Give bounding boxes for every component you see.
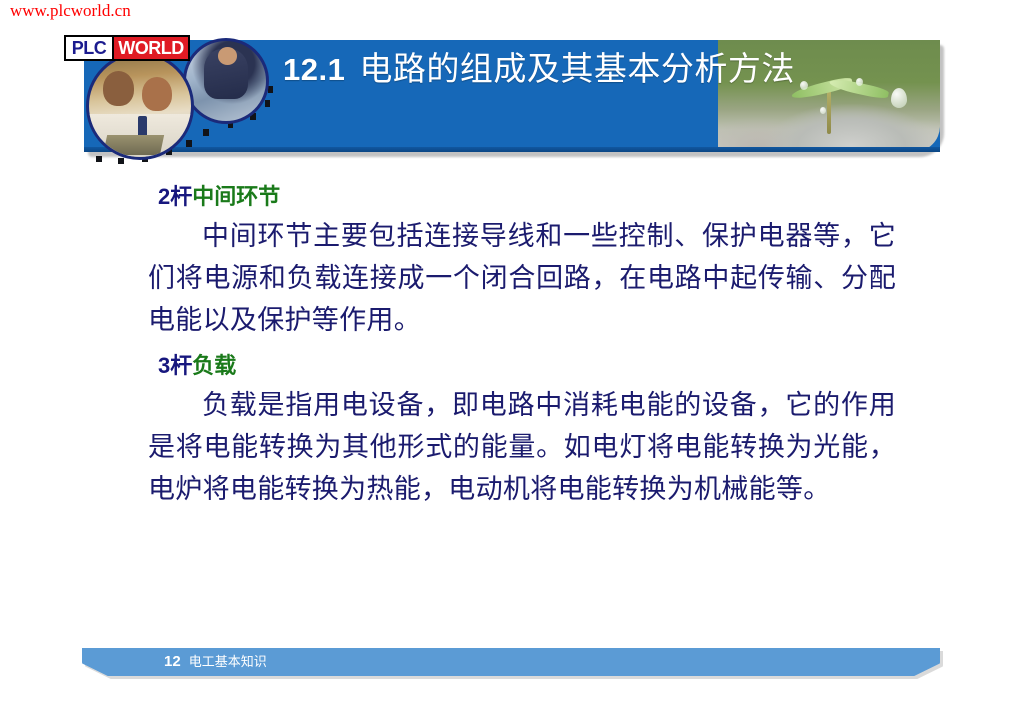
- scan-artifact: [203, 129, 209, 136]
- watermark-url: www.plcworld.cn: [10, 1, 131, 21]
- section-heading-2-prefix: 2杆: [158, 184, 192, 209]
- photo-circle-back: [183, 38, 269, 124]
- footer-label: 12电工基本知识: [164, 652, 267, 672]
- section-spacer: [0, 341, 1024, 349]
- section-heading-2: 2杆中间环节: [0, 180, 1024, 213]
- header-section-number: 12.1: [283, 52, 345, 87]
- scan-artifact: [265, 100, 270, 107]
- photo-shape-person-b: [142, 77, 172, 111]
- footer-chapter-number: 12: [164, 653, 181, 670]
- logo-plc-text: PLC: [66, 37, 112, 59]
- water-droplet-icon: [820, 107, 826, 114]
- photo-circle-front: [86, 52, 194, 160]
- section-heading-3: 3杆负载: [0, 349, 1024, 382]
- section-paragraph-2: 中间环节主要包括连接导线和一些控制、保护电器等，它们将电源和负载连接成一个闭合回…: [0, 215, 1024, 341]
- slide-body: 2杆中间环节 中间环节主要包括连接导线和一些控制、保护电器等，它们将电源和负载连…: [0, 180, 1024, 510]
- scan-artifact: [268, 86, 273, 93]
- photo-shape-person-a: [103, 71, 134, 106]
- section-heading-3-prefix: 3杆: [158, 353, 192, 378]
- slide-footer: 12电工基本知识: [82, 648, 940, 676]
- section-heading-2-label: 中间环节: [192, 184, 280, 209]
- photo-shape-laptop: [103, 135, 164, 155]
- section-paragraph-3: 负载是指用电设备，即电路中消耗电能的设备，它的作用是将电能转换为其他形式的能量。…: [0, 384, 1024, 510]
- scan-artifact: [118, 158, 124, 164]
- logo-world-text: WORLD: [112, 37, 188, 59]
- header-title: 12.1电路的组成及其基本分析方法: [283, 46, 908, 94]
- plc-world-logo: PLC WORLD: [64, 35, 190, 61]
- footer-chapter-label: 电工基本知识: [189, 654, 267, 669]
- header-title-text: 电路的组成及其基本分析方法: [359, 52, 795, 88]
- section-heading-3-label: 负载: [192, 353, 236, 378]
